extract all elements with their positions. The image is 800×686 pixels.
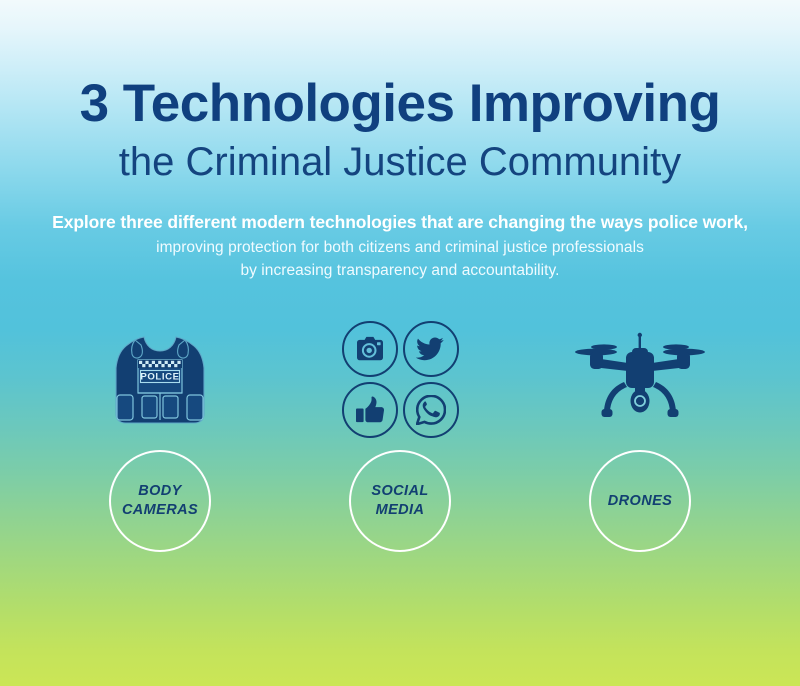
instagram-camera-badge[interactable] [342,321,398,377]
twitter-bird-badge[interactable] [403,321,459,377]
icon-area-social-media [342,308,459,450]
facebook-thumbs-up-icon [355,396,385,424]
header: 3 Technologies Improving the Criminal Ju… [0,0,800,283]
page-title-line1: 3 Technologies Improving [0,76,800,132]
vest-police-text: POLICE [140,372,179,383]
column-social-media: SOCIAL MEDIA [280,308,520,552]
icon-area-drones [574,308,706,450]
label-circle-social-media[interactable]: SOCIAL MEDIA [349,450,451,552]
label-text-social-media: SOCIAL MEDIA [371,482,428,520]
label-text-body-cameras: BODY CAMERAS [122,482,198,520]
twitter-bird-icon [416,336,446,362]
column-drones: DRONES [520,308,760,552]
subtitle-bold-line: Explore three different modern technolog… [0,209,800,236]
checker-band [138,360,182,368]
page-title-line2: the Criminal Justice Community [0,132,800,192]
infographic-canvas: 3 Technologies Improving the Criminal Ju… [0,0,800,686]
subtitle-block: Explore three different modern technolog… [0,209,800,283]
icon-area-body-cameras: POLICE [108,308,212,450]
whatsapp-phone-icon [416,395,446,425]
instagram-camera-icon [355,336,385,362]
label-circle-body-cameras[interactable]: BODY CAMERAS [109,450,211,552]
social-media-icons [342,321,459,438]
label-text-drones: DRONES [608,492,672,511]
facebook-thumbs-up-badge[interactable] [342,382,398,438]
quadcopter-drone-icon [574,331,706,427]
column-body-cameras: POLICE BODY CAMERAS [40,308,280,552]
label-circle-drones[interactable]: DRONES [589,450,691,552]
technology-columns: POLICE BODY CAMERAS [0,308,800,552]
police-vest-icon: POLICE [108,324,212,434]
whatsapp-phone-badge[interactable] [403,382,459,438]
subtitle-line-3: by increasing transparency and accountab… [0,259,800,283]
subtitle-line-2: improving protection for both citizens a… [0,236,800,260]
